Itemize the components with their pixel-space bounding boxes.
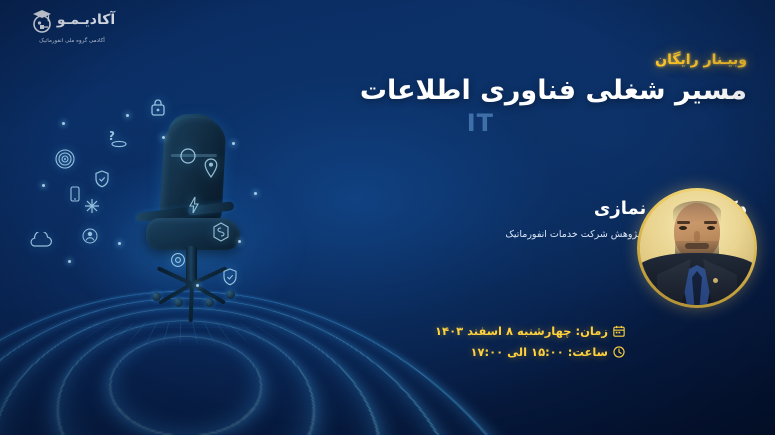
webinar-poster: آکادیـمـو آکادمی گروه ملی انفورماتیک [0,0,775,435]
portrait-eye-right [707,226,715,230]
schedule-time-row: ساعت: ۱۵:۰۰ الی ۱۷:۰۰ [305,345,625,359]
badge-check-icon [222,268,238,288]
user-icon [82,228,98,246]
spark-dot [162,136,165,139]
gear-icon [170,252,186,270]
spark-dot [68,260,71,263]
svg-text:?: ? [110,129,115,143]
chair-caster [205,298,214,307]
portrait-lapel-pin [713,278,718,283]
schedule-time-text: ساعت: ۱۵:۰۰ الی ۱۷:۰۰ [470,345,608,359]
spark-dot [62,122,65,125]
schedule-date-text: زمان: چهارشنبه ۸ اسفند ۱۴۰۳ [435,324,608,338]
spark-dot [232,142,235,145]
spark-dot [126,114,129,117]
office-chair-tech-platform-illustration: ? [22,92,352,362]
schedule-block: زمان: چهارشنبه ۸ اسفند ۱۴۰۳ ساعت: ۱۵:۰۰ … [305,324,625,366]
cloud-icon [28,232,54,250]
speaker-portrait [640,191,754,305]
spark-dot [254,192,257,195]
brand-tagline: آکادمی گروه ملی انفورماتیک [12,38,132,45]
chair-caster [152,292,161,301]
portrait-brow-left [677,221,690,224]
brand-logo: آکادیـمـو آکادمی گروه ملی انفورماتیک [12,6,132,45]
chair-caster [174,298,183,307]
calendar-icon [613,325,625,337]
portrait-eye-left [679,226,687,230]
portrait-moustache [685,243,709,249]
hero-kicker: وبیـنار رایگان [307,52,747,68]
lock-icon [150,98,166,118]
spark-dot [196,284,199,287]
spark-dot [238,240,241,243]
snowflake-icon [84,198,100,216]
location-pin-icon [204,158,218,180]
avatar [637,188,757,308]
circle-icon [180,148,196,166]
chair-caster [226,290,235,299]
schedule-date-row: زمان: چهارشنبه ۸ اسفند ۱۴۰۳ [305,324,625,338]
portrait-hair [673,201,721,223]
hexagon-icon [212,222,230,244]
bolt-icon [188,196,200,216]
chair-leg [189,282,194,322]
spark-dot [118,242,121,245]
mobile-icon [70,186,80,204]
clock-icon [613,346,625,358]
question-mark-icon: ? [110,128,128,151]
brand-name: آکادیـمـو [57,13,115,27]
page-title: مسیر شغلی فناوری اطلاعات [307,74,747,108]
shield-icon [94,170,110,190]
spark-dot [42,184,45,187]
hero-text-block: وبیـنار رایگان مسیر شغلی فناوری اطلاعات … [307,52,747,137]
brand-logo-row: آکادیـمـو [12,6,132,34]
portrait-brow-right [704,221,717,224]
page-title-en: IT [307,109,747,137]
graduation-cap-logo-icon [29,6,55,34]
fingerprint-icon [54,148,76,172]
